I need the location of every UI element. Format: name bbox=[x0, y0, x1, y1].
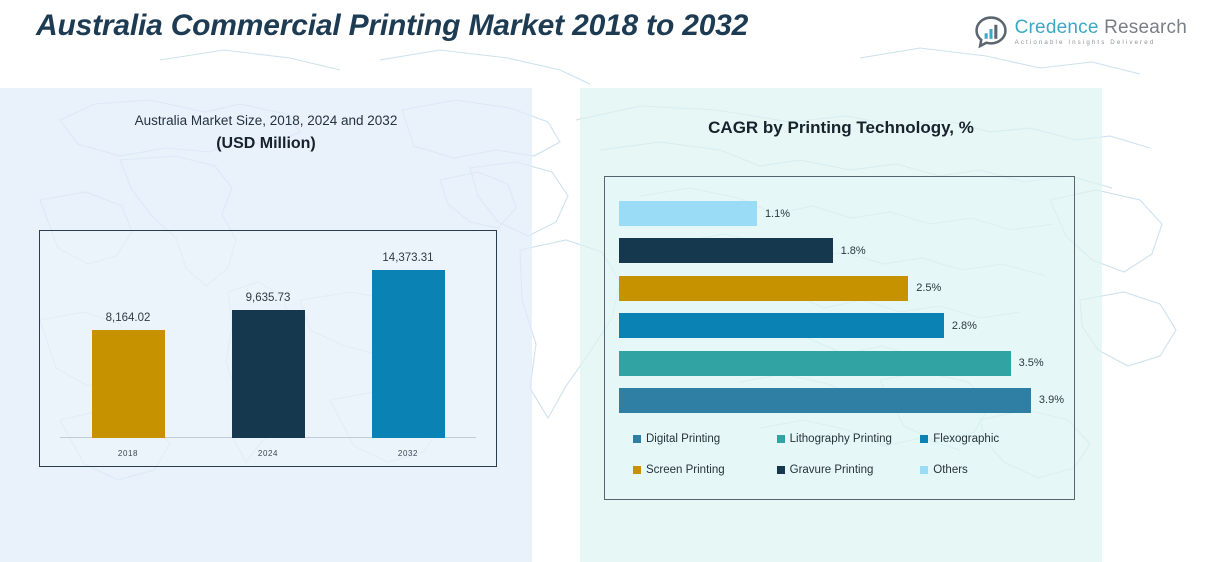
market-size-bar-chart: 8,164.02 9,635.73 14,373.31 2018 2024 20… bbox=[39, 230, 497, 467]
left-chart-heading: Australia Market Size, 2018, 2024 and 20… bbox=[0, 112, 532, 156]
bar-flexographic[interactable] bbox=[619, 313, 944, 338]
brand-name: Credence Research bbox=[1015, 18, 1187, 37]
legend-item-lithography-printing[interactable]: Lithography Printing bbox=[777, 423, 921, 454]
legend-label: Others bbox=[933, 464, 968, 476]
legend-item-gravure-printing[interactable]: Gravure Printing bbox=[777, 454, 921, 485]
bar-value-label: 2.5% bbox=[916, 282, 941, 294]
brand-name-part1: Credence bbox=[1015, 17, 1099, 38]
bar-screen-printing[interactable] bbox=[619, 276, 908, 301]
bar-others[interactable] bbox=[619, 201, 757, 226]
brand-name-part2: Research bbox=[1104, 17, 1187, 38]
bar-row: 3.5% bbox=[619, 351, 1064, 376]
brand-logo: Credence Research Actionable Insights De… bbox=[974, 12, 1187, 52]
page-title: Australia Commercial Printing Market 201… bbox=[36, 6, 856, 46]
legend-label: Flexographic bbox=[933, 433, 999, 445]
brand-logo-text: Credence Research Actionable Insights De… bbox=[1015, 18, 1187, 46]
x-axis-label-2032: 2032 bbox=[353, 449, 463, 458]
bar-value-label: 9,635.73 bbox=[246, 292, 291, 304]
legend-label: Digital Printing bbox=[646, 433, 720, 445]
bar-value-label: 8,164.02 bbox=[106, 312, 151, 324]
legend-item-digital-printing[interactable]: Digital Printing bbox=[633, 423, 777, 454]
bar-gravure-printing[interactable] bbox=[619, 238, 833, 263]
bar-digital-printing[interactable] bbox=[619, 388, 1031, 413]
bar-2024[interactable] bbox=[232, 310, 305, 438]
infographic-root: Australia Commercial Printing Market 201… bbox=[0, 0, 1205, 562]
x-axis-label-2024: 2024 bbox=[213, 449, 323, 458]
bar-row: 3.9% bbox=[619, 388, 1064, 413]
bar-value-label: 2.8% bbox=[952, 320, 977, 332]
bar-column: 8,164.02 bbox=[73, 252, 183, 438]
bar-row: 2.8% bbox=[619, 313, 1064, 338]
bar-value-label: 3.5% bbox=[1019, 357, 1044, 369]
bar-value-label: 14,373.31 bbox=[382, 252, 433, 264]
left-chart-unit: (USD Million) bbox=[0, 132, 532, 156]
legend-swatch-icon bbox=[777, 466, 785, 474]
bar-row: 2.5% bbox=[619, 276, 1064, 301]
legend-swatch-icon bbox=[777, 435, 785, 443]
bar-value-label: 1.8% bbox=[841, 245, 866, 257]
left-chart-subtitle: Australia Market Size, 2018, 2024 and 20… bbox=[0, 112, 532, 130]
horizontal-bars-group: 1.1% 1.8% 2.5% 2.8% 3.5% 3.9% bbox=[619, 201, 1064, 413]
bar-row: 1.8% bbox=[619, 238, 1064, 263]
legend-item-screen-printing[interactable]: Screen Printing bbox=[633, 454, 777, 485]
bar-column: 9,635.73 bbox=[213, 252, 323, 438]
legend-swatch-icon bbox=[920, 435, 928, 443]
legend-label: Screen Printing bbox=[646, 464, 725, 476]
bar-column: 14,373.31 bbox=[353, 252, 463, 438]
legend-label: Gravure Printing bbox=[790, 464, 874, 476]
legend-swatch-icon bbox=[633, 435, 641, 443]
bar-value-label: 1.1% bbox=[765, 208, 790, 220]
cagr-bar-chart: 1.1% 1.8% 2.5% 2.8% 3.5% 3.9% bbox=[604, 176, 1075, 500]
chart-legend: Digital Printing Lithography Printing Fl… bbox=[633, 423, 1064, 485]
header: Australia Commercial Printing Market 201… bbox=[0, 0, 1205, 88]
bar-row: 1.1% bbox=[619, 201, 1064, 226]
bar-2018[interactable] bbox=[92, 330, 165, 438]
right-chart-title: CAGR by Printing Technology, % bbox=[580, 118, 1102, 138]
vertical-bars-group: 8,164.02 9,635.73 14,373.31 bbox=[40, 252, 496, 438]
legend-item-others[interactable]: Others bbox=[920, 454, 1064, 485]
brand-tagline: Actionable Insights Delivered bbox=[1015, 40, 1187, 46]
x-axis-label-2018: 2018 bbox=[73, 449, 183, 458]
legend-item-flexographic[interactable]: Flexographic bbox=[920, 423, 1064, 454]
legend-label: Lithography Printing bbox=[790, 433, 892, 445]
legend-swatch-icon bbox=[920, 466, 928, 474]
bar-2032[interactable] bbox=[372, 270, 445, 438]
x-axis-labels: 2018 2024 2032 bbox=[40, 449, 496, 458]
legend-swatch-icon bbox=[633, 466, 641, 474]
bar-lithography-printing[interactable] bbox=[619, 351, 1011, 376]
credence-bubble-bar-chart-icon bbox=[974, 15, 1008, 49]
bar-value-label: 3.9% bbox=[1039, 394, 1064, 406]
